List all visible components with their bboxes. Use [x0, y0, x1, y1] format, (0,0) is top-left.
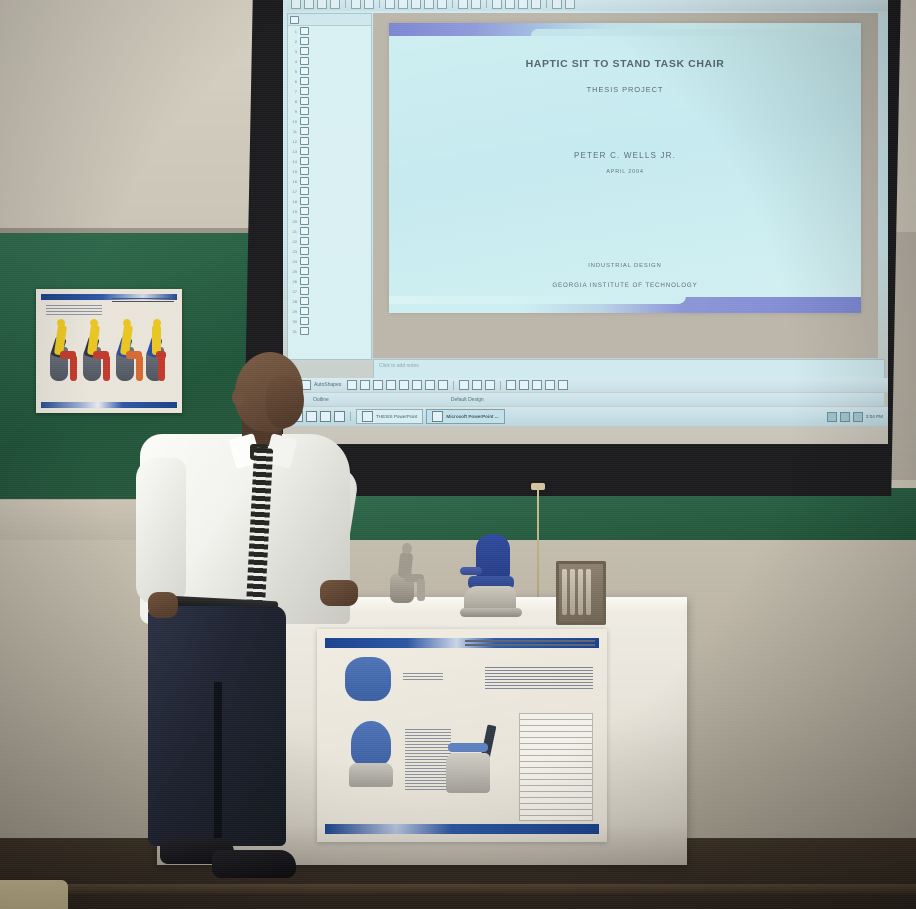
outline-slide-number: 24 [291, 259, 297, 264]
outline-slide-number: 2 [291, 39, 297, 44]
textbox-icon[interactable] [412, 380, 422, 390]
3d-icon[interactable] [558, 380, 568, 390]
outline-slide-row[interactable]: 16 [288, 176, 371, 186]
outline-slide-row[interactable]: 12 [288, 136, 371, 146]
font-color-icon[interactable] [485, 380, 495, 390]
table-poster-paragraph [485, 667, 593, 689]
slide-icon[interactable] [300, 227, 309, 235]
slide-icon[interactable] [300, 37, 309, 45]
presenter-leg-gap [214, 682, 222, 842]
outline-slide-number: 18 [291, 199, 297, 204]
outline-slide-number: 5 [291, 69, 297, 74]
outline-slide-number: 23 [291, 249, 297, 254]
wall-poster-text [46, 305, 102, 317]
print-icon[interactable] [351, 0, 361, 9]
volume-icon[interactable] [827, 412, 837, 422]
outline-slide-number: 3 [291, 49, 297, 54]
slide-author: PETER C. WELLS JR. [389, 151, 861, 160]
email-icon[interactable] [330, 0, 340, 9]
outline-slide-row[interactable]: 26 [288, 276, 371, 286]
shadow-icon[interactable] [545, 380, 555, 390]
slide-subtitle: THESIS PROJECT [389, 85, 861, 94]
slide-icon[interactable] [300, 177, 309, 185]
undo-icon[interactable] [458, 0, 468, 9]
outline-slide-number: 7 [291, 89, 297, 94]
slide-icon [290, 16, 299, 24]
insert-hyperlink-icon[interactable] [492, 0, 502, 9]
screen-pull-cord[interactable] [537, 486, 539, 598]
slide-icon[interactable] [300, 217, 309, 225]
current-slide[interactable]: HAPTIC SIT TO STAND TASK CHAIR THESIS PR… [389, 23, 861, 313]
poster-figure-shin [70, 355, 77, 381]
poster-figure [81, 325, 111, 391]
poster-chair-seat [448, 743, 488, 752]
presenter-ear [232, 388, 245, 406]
slide-icon[interactable] [300, 287, 309, 295]
rectangle-icon[interactable] [386, 380, 396, 390]
paste-icon[interactable] [424, 0, 434, 9]
presenter [128, 352, 378, 897]
outline-slide-row[interactable]: 14 [288, 156, 371, 166]
preview-icon[interactable] [364, 0, 374, 9]
open-icon[interactable] [304, 0, 314, 9]
outline-slide-row[interactable]: 27 [288, 286, 371, 296]
slide-editing-area[interactable]: HAPTIC SIT TO STAND TASK CHAIR THESIS PR… [373, 13, 878, 358]
outline-slide-row[interactable]: 6 [288, 76, 371, 86]
outline-slide-row[interactable]: 3 [288, 46, 371, 56]
outline-slide-number: 21 [291, 229, 297, 234]
slide-icon[interactable] [300, 297, 309, 305]
slide-icon[interactable] [300, 197, 309, 205]
wall-poster-title [112, 298, 174, 303]
outline-slide-number: 19 [291, 209, 297, 214]
outline-slide-row[interactable]: 31 [288, 326, 371, 336]
slide-icon[interactable] [300, 57, 309, 65]
poster-legend-table [519, 713, 593, 821]
copy-icon[interactable] [411, 0, 421, 9]
outline-slide-row[interactable]: 4 [288, 56, 371, 66]
outline-slide-number: 11 [291, 129, 297, 134]
outline-slide-number: 1 [291, 29, 297, 34]
poster-chair-side-view [442, 737, 500, 793]
slide-icon[interactable] [300, 127, 309, 135]
taskbar-button-label: Microsoft PowerPoint ... [446, 414, 498, 419]
outline-slide-row[interactable]: 25 [288, 266, 371, 276]
sample-slat [578, 569, 583, 615]
slide-icon[interactable] [300, 147, 309, 155]
outline-slide-row[interactable]: 18 [288, 196, 371, 206]
slide-icon[interactable] [300, 67, 309, 75]
slide-organization: GEORGIA INSTITUTE OF TECHNOLOGY [389, 282, 861, 289]
taskbar-button-powerpoint[interactable]: Microsoft PowerPoint ... [426, 409, 504, 424]
slide-icon[interactable] [300, 207, 309, 215]
slide-top-band [389, 23, 861, 36]
outline-pane-header [288, 14, 371, 26]
outline-slide-number: 31 [291, 329, 297, 334]
slide-bottom-band [389, 297, 861, 313]
outline-pane[interactable]: 1234567891011121314151617181920212223242… [287, 13, 372, 360]
slide-department: INDUSTRIAL DESIGN [389, 263, 861, 269]
slide-title: HAPTIC SIT TO STAND TASK CHAIR [389, 58, 861, 70]
outline-slide-number: 10 [291, 119, 297, 124]
figurine-shin [417, 579, 425, 601]
dash-style-icon[interactable] [519, 380, 529, 390]
sample-slat [570, 569, 575, 615]
arrow-style-icon[interactable] [532, 380, 542, 390]
clipart-icon[interactable] [438, 380, 448, 390]
line-style-icon[interactable] [506, 380, 516, 390]
material-sample-stand [556, 561, 606, 625]
help-icon[interactable] [565, 0, 575, 9]
slide-icon[interactable] [300, 137, 309, 145]
outline-slide-row[interactable]: 24 [288, 256, 371, 266]
slide-icon[interactable] [300, 237, 309, 245]
outline-slide-row[interactable]: 8 [288, 96, 371, 106]
slide-icon[interactable] [300, 267, 309, 275]
outline-slide-row[interactable]: 2 [288, 36, 371, 46]
outline-slide-number: 22 [291, 239, 297, 244]
slide-icon[interactable] [300, 247, 309, 255]
line-color-icon[interactable] [472, 380, 482, 390]
poster-figure-shin [103, 355, 110, 381]
haptic-task-chair-model [458, 534, 524, 618]
outline-slide-row[interactable]: 19 [288, 206, 371, 216]
slide-date: APRIL 2004 [389, 169, 861, 175]
outline-slide-number: 17 [291, 189, 297, 194]
outline-slide-number: 14 [291, 159, 297, 164]
figurine-head [402, 543, 412, 554]
outline-slide-number: 4 [291, 59, 297, 64]
outline-slide-row[interactable]: 17 [288, 186, 371, 196]
toolbar-separator [379, 0, 380, 8]
slide-icon[interactable] [300, 87, 309, 95]
slide-icon[interactable] [300, 107, 309, 115]
outline-slide-row[interactable]: 1 [288, 26, 371, 36]
cut-icon[interactable] [398, 0, 408, 9]
outline-slide-row[interactable]: 10 [288, 116, 371, 126]
outline-slide-row[interactable]: 11 [288, 126, 371, 136]
chair-model-foot [460, 608, 522, 617]
slide-icon[interactable] [300, 157, 309, 165]
format-painter-icon[interactable] [437, 0, 447, 9]
outline-slide-number: 16 [291, 179, 297, 184]
slide-icon[interactable] [300, 317, 309, 325]
table-poster-title [465, 640, 595, 647]
outline-slide-number: 29 [291, 309, 297, 314]
outline-slide-row[interactable]: 13 [288, 146, 371, 156]
outline-slide-number: 8 [291, 99, 297, 104]
outline-slide-number: 26 [291, 279, 297, 284]
slide-icon[interactable] [300, 97, 309, 105]
zoom-icon[interactable] [552, 0, 562, 9]
presenter-right-arm [136, 458, 186, 604]
powerpoint-icon [432, 411, 443, 422]
toolbar-separator [486, 0, 487, 8]
chair-model-armrest [460, 567, 482, 575]
network-icon[interactable] [840, 412, 850, 422]
outline-slide-row[interactable]: 5 [288, 66, 371, 76]
toolbar-separator [453, 381, 454, 390]
outline-slide-number: 20 [291, 219, 297, 224]
presenter-left-hand [320, 580, 358, 606]
save-icon[interactable] [317, 0, 327, 9]
slide-icon[interactable] [300, 47, 309, 55]
outline-slide-row[interactable]: 22 [288, 236, 371, 246]
outline-slide-row[interactable]: 15 [288, 166, 371, 176]
antivirus-icon[interactable] [853, 412, 863, 422]
outline-slide-number: 27 [291, 289, 297, 294]
outline-slide-number: 12 [291, 139, 297, 144]
toolbar-separator [345, 0, 346, 8]
sample-slat [562, 569, 567, 615]
system-tray[interactable]: 3:04 PM [827, 412, 888, 422]
new-icon[interactable] [291, 0, 301, 9]
outline-slide-row[interactable]: 21 [288, 226, 371, 236]
wordart-icon[interactable] [425, 380, 435, 390]
slide-icon[interactable] [300, 117, 309, 125]
desk-corner [0, 880, 68, 909]
outline-slide-number: 25 [291, 269, 297, 274]
chart-icon[interactable] [518, 0, 528, 9]
outline-slide-row[interactable]: 23 [288, 246, 371, 256]
presenter-right-hand [148, 592, 178, 618]
poster-chair-base-side [446, 753, 490, 793]
screenshot-root: 1234567891011121314151617181920212223242… [0, 0, 916, 909]
outline-slide-row[interactable]: 9 [288, 106, 371, 116]
outline-slide-number: 30 [291, 319, 297, 324]
outline-slide-row[interactable]: 30 [288, 316, 371, 326]
slide-icon[interactable] [300, 327, 309, 335]
taskbar-button-label: THESIS PowerPoint [376, 414, 417, 419]
new-slide-icon[interactable] [531, 0, 541, 9]
toolbar-separator [546, 0, 547, 8]
standard-toolbar[interactable] [287, 0, 888, 11]
slide-icon[interactable] [300, 77, 309, 85]
outline-slide-number: 13 [291, 149, 297, 154]
slide-icon[interactable] [300, 307, 309, 315]
sample-slat [586, 569, 591, 615]
redo-icon[interactable] [471, 0, 481, 9]
toolbar-separator [500, 381, 501, 390]
table-icon[interactable] [505, 0, 515, 9]
seated-figurine-model [386, 543, 428, 605]
slide-icon[interactable] [300, 167, 309, 175]
spell-icon[interactable] [385, 0, 395, 9]
poster-figure [48, 325, 78, 391]
outline-slide-row[interactable]: 7 [288, 86, 371, 96]
outline-slide-row[interactable]: 28 [288, 296, 371, 306]
outline-slide-number: 9 [291, 109, 297, 114]
presenter-face [266, 376, 304, 428]
fill-color-icon[interactable] [459, 380, 469, 390]
outline-slide-row[interactable]: 20 [288, 216, 371, 226]
outline-slide-number: 15 [291, 169, 297, 174]
slide-icon[interactable] [300, 277, 309, 285]
toolbar-separator [452, 0, 453, 8]
outline-slide-row[interactable]: 29 [288, 306, 371, 316]
taskbar-clock: 3:04 PM [866, 414, 883, 419]
slide-icon[interactable] [300, 187, 309, 195]
outline-slide-number: 28 [291, 299, 297, 304]
outline-slide-number: 6 [291, 79, 297, 84]
presenter-shoe-right [212, 850, 296, 878]
slide-icon[interactable] [300, 27, 309, 35]
poster-callout [403, 673, 443, 682]
oval-icon[interactable] [399, 380, 409, 390]
slide-icon[interactable] [300, 257, 309, 265]
